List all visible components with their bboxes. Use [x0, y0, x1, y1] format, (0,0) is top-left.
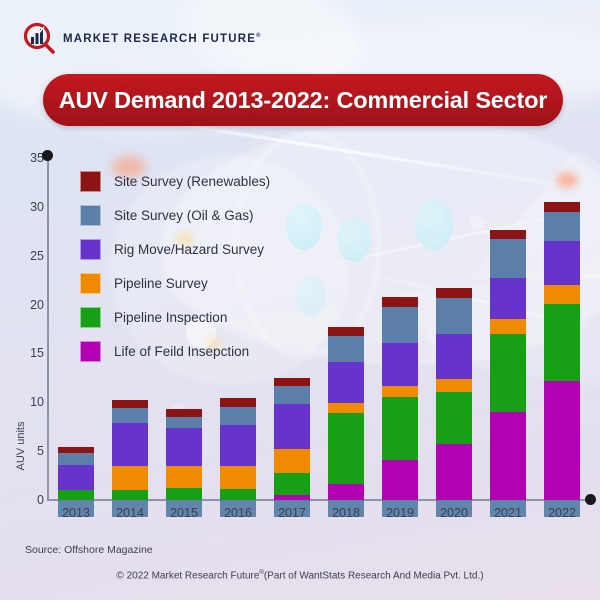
magnifier-bar-chart-icon — [22, 22, 56, 56]
page-title: AUV Demand 2013-2022: Commercial Sector — [59, 87, 548, 114]
legend-item-label: Site Survey (Renewables) — [114, 174, 270, 189]
legend-swatch-icon — [80, 341, 101, 362]
bar-segment[interactable] — [166, 417, 202, 428]
legend-item-site_survey_oil_gas[interactable]: Site Survey (Oil & Gas) — [80, 198, 270, 232]
bar-segment[interactable] — [490, 278, 526, 319]
bar-segment[interactable] — [112, 408, 148, 423]
chart-legend: Site Survey (Renewables)Site Survey (Oil… — [80, 164, 270, 368]
legend-swatch-icon — [80, 273, 101, 294]
stacked-bar[interactable] — [544, 202, 580, 500]
y-axis-ticks: 05101520253035 — [0, 140, 44, 540]
legend-item-label: Site Survey (Oil & Gas) — [114, 208, 254, 223]
bar-segment[interactable] — [544, 285, 580, 304]
stacked-bar[interactable] — [328, 327, 364, 500]
bar-segment[interactable] — [436, 444, 472, 500]
y-axis-tick-label: 25 — [8, 249, 44, 263]
x-axis-tick-label-2016: 2016 — [211, 506, 265, 520]
bar-group-2018[interactable] — [319, 158, 373, 500]
bar-segment[interactable] — [220, 466, 256, 489]
x-axis-tick-label-2019: 2019 — [373, 506, 427, 520]
legend-item-pipeline_survey[interactable]: Pipeline Survey — [80, 266, 270, 300]
stacked-bar[interactable] — [382, 297, 418, 500]
bar-segment[interactable] — [436, 288, 472, 298]
bar-segment[interactable] — [166, 428, 202, 466]
bar-segment[interactable] — [436, 392, 472, 445]
bar-segment[interactable] — [544, 202, 580, 212]
title-banner: AUV Demand 2013-2022: Commercial Sector — [43, 74, 563, 126]
x-axis-tick-label-2021: 2021 — [481, 506, 535, 520]
bar-segment[interactable] — [544, 212, 580, 241]
x-axis-tick-label-2018: 2018 — [319, 506, 373, 520]
bar-segment[interactable] — [382, 343, 418, 386]
stacked-bar[interactable] — [112, 400, 148, 500]
legend-item-life_of_field_inspection[interactable]: Life of Feild Insepction — [80, 334, 270, 368]
bar-segment[interactable] — [58, 453, 94, 465]
bar-segment[interactable] — [544, 381, 580, 500]
bar-group-2019[interactable] — [373, 158, 427, 500]
bar-segment[interactable] — [112, 466, 148, 490]
legend-swatch-icon — [80, 171, 101, 192]
bar-segment[interactable] — [220, 489, 256, 500]
legend-item-label: Pipeline Inspection — [114, 310, 227, 325]
bar-segment[interactable] — [490, 412, 526, 500]
x-axis-tick-label-2017: 2017 — [265, 506, 319, 520]
x-axis-tick-label-2015: 2015 — [157, 506, 211, 520]
bar-segment[interactable] — [328, 327, 364, 336]
copyright-suffix: (Part of WantStats Research And Media Pv… — [264, 570, 484, 581]
legend-swatch-icon — [80, 307, 101, 328]
legend-item-site_survey_renewables[interactable]: Site Survey (Renewables) — [80, 164, 270, 198]
bar-segment[interactable] — [220, 425, 256, 466]
bar-segment[interactable] — [382, 307, 418, 343]
bar-segment[interactable] — [436, 379, 472, 392]
bar-segment[interactable] — [490, 334, 526, 412]
bar-segment[interactable] — [58, 490, 94, 500]
bar-segment[interactable] — [436, 334, 472, 379]
brand-logo: MARKET RESEARCH FUTURE® — [22, 22, 262, 56]
bar-segment[interactable] — [112, 490, 148, 500]
source-note: Source: Offshore Magazine — [25, 544, 153, 556]
bar-segment[interactable] — [328, 413, 364, 484]
bar-group-2021[interactable] — [481, 158, 535, 500]
bar-segment[interactable] — [274, 495, 310, 500]
stacked-bar[interactable] — [166, 409, 202, 500]
bar-segment[interactable] — [382, 297, 418, 307]
bar-segment[interactable] — [328, 484, 364, 500]
y-axis-tick-label: 20 — [8, 298, 44, 312]
bar-group-2022[interactable] — [535, 158, 589, 500]
brand-name-text: MARKET RESEARCH FUTURE — [63, 33, 256, 45]
bar-group-2020[interactable] — [427, 158, 481, 500]
bar-segment[interactable] — [436, 298, 472, 334]
bar-segment[interactable] — [166, 466, 202, 488]
bar-segment[interactable] — [112, 400, 148, 408]
x-axis-tick-label-2022: 2022 — [535, 506, 589, 520]
bar-segment[interactable] — [58, 465, 94, 490]
bar-segment[interactable] — [328, 336, 364, 362]
bar-segment[interactable] — [274, 378, 310, 386]
y-axis-tick-label: 35 — [8, 151, 44, 165]
x-axis-tick-label-2013: 2013 — [49, 506, 103, 520]
bar-segment[interactable] — [490, 239, 526, 278]
bar-segment[interactable] — [274, 404, 310, 449]
bar-segment[interactable] — [274, 473, 310, 495]
stacked-bar[interactable] — [436, 288, 472, 500]
stacked-bar[interactable] — [58, 447, 94, 500]
bar-segment[interactable] — [220, 398, 256, 407]
legend-item-rig_move_hazard_survey[interactable]: Rig Move/Hazard Survey — [80, 232, 270, 266]
bar-segment[interactable] — [382, 386, 418, 398]
y-axis-tick-label: 30 — [8, 200, 44, 214]
brand-name: MARKET RESEARCH FUTURE® — [63, 33, 262, 45]
stacked-bar[interactable] — [220, 398, 256, 500]
legend-item-label: Rig Move/Hazard Survey — [114, 242, 264, 257]
bar-segment[interactable] — [490, 230, 526, 239]
bar-segment[interactable] — [274, 449, 310, 472]
bar-segment[interactable] — [274, 386, 310, 405]
registered-mark: ® — [256, 33, 262, 39]
bar-segment[interactable] — [544, 304, 580, 381]
bar-segment[interactable] — [382, 460, 418, 500]
y-axis-tick-label: 5 — [8, 444, 44, 458]
bar-segment[interactable] — [382, 397, 418, 460]
stacked-bar[interactable] — [490, 230, 526, 500]
x-axis-tick-label-2014: 2014 — [103, 506, 157, 520]
legend-item-label: Pipeline Survey — [114, 276, 208, 291]
y-axis-tick-label: 0 — [8, 493, 44, 507]
bar-group-2017[interactable] — [265, 158, 319, 500]
bar-segment[interactable] — [328, 403, 364, 413]
bar-segment[interactable] — [166, 488, 202, 500]
bar-segment[interactable] — [112, 423, 148, 466]
bar-segment[interactable] — [490, 319, 526, 334]
y-axis-tick-label: 10 — [8, 395, 44, 409]
y-axis-tick-label: 15 — [8, 346, 44, 360]
legend-item-pipeline_inspection[interactable]: Pipeline Inspection — [80, 300, 270, 334]
bar-segment[interactable] — [328, 362, 364, 403]
legend-item-label: Life of Feild Insepction — [114, 344, 249, 359]
bar-segment[interactable] — [166, 409, 202, 417]
copyright-note: © 2022 Market Research Future®(Part of W… — [0, 570, 600, 581]
legend-swatch-icon — [80, 205, 101, 226]
bar-segment[interactable] — [544, 241, 580, 285]
x-axis-tick-label-2020: 2020 — [427, 506, 481, 520]
stacked-bar[interactable] — [274, 378, 310, 500]
copyright-prefix: © 2022 Market Research Future — [116, 570, 259, 581]
legend-swatch-icon — [80, 239, 101, 260]
bar-segment[interactable] — [220, 407, 256, 425]
